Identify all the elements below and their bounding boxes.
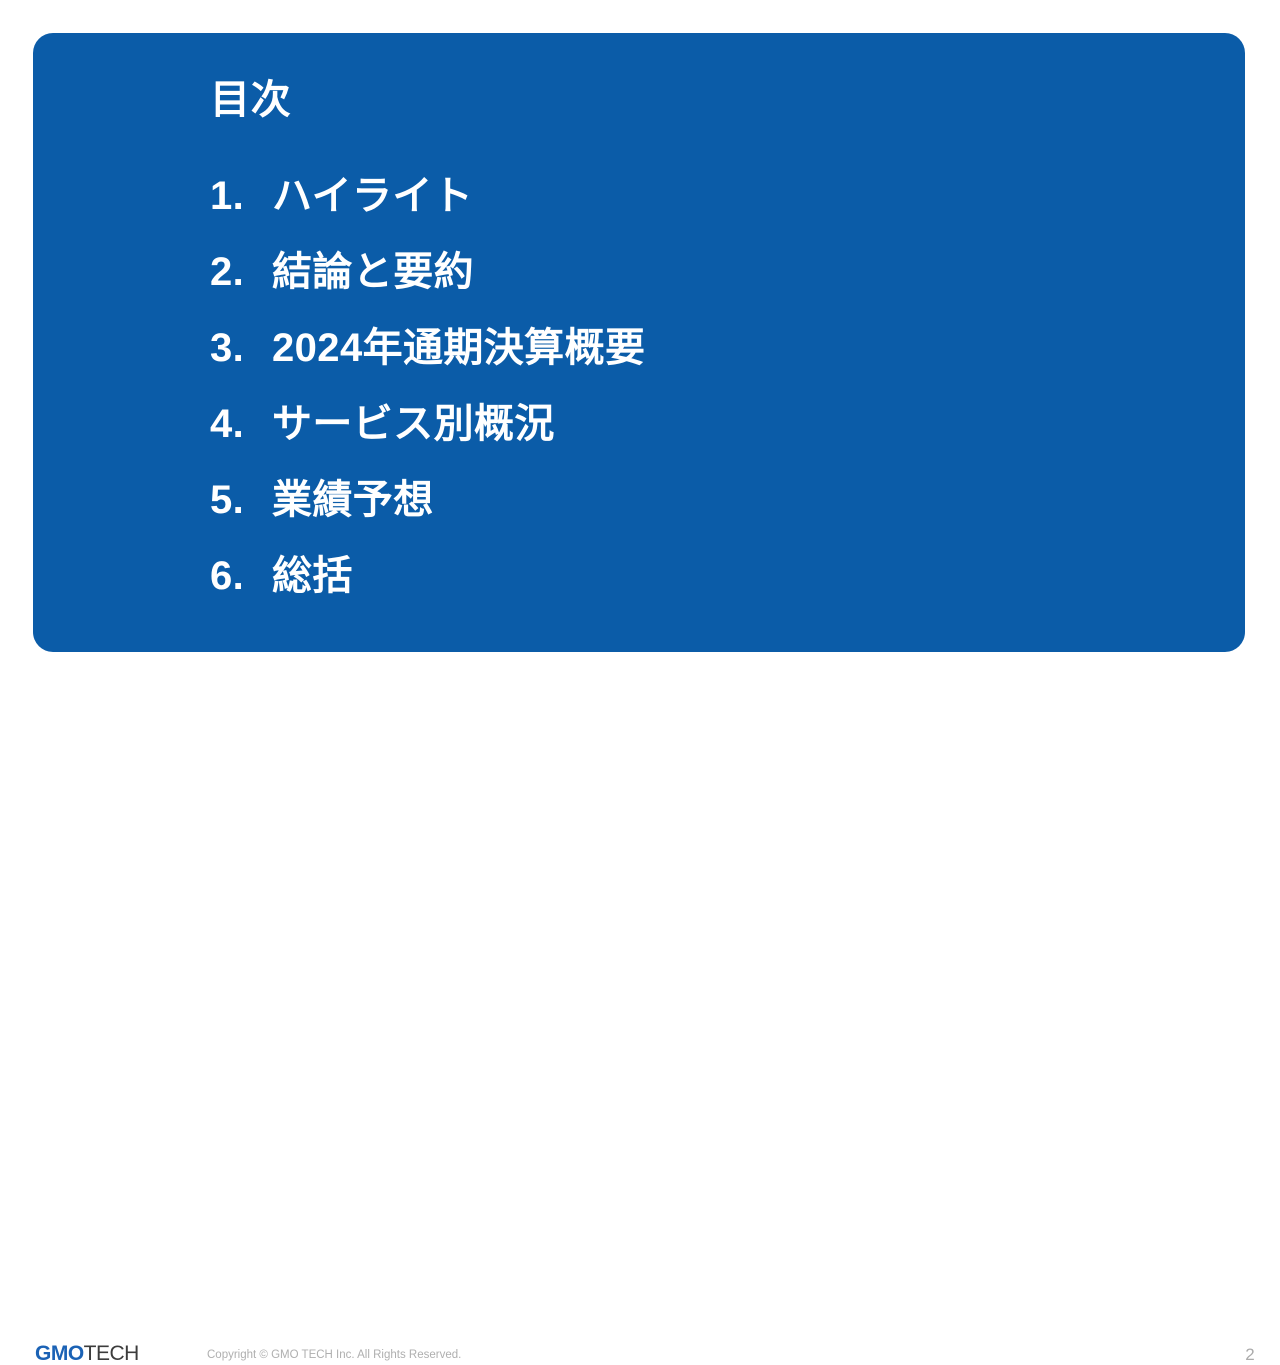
list-item-label: 業績予想 — [272, 462, 434, 538]
list-item[interactable]: 3. 2024年通期決算概要 — [210, 310, 1190, 386]
list-item-number: 4. — [210, 386, 272, 462]
page-number: 2 — [1238, 1345, 1262, 1365]
list-item-number: 3. — [210, 310, 272, 386]
list-item-number: 2. — [210, 234, 272, 310]
list-item-label: 総括 — [272, 538, 353, 614]
list-item-label: ハイライト — [272, 158, 473, 234]
list-item-label: サービス別概況 — [272, 386, 555, 462]
slide-footer: GMOTECH Copyright © GMO TECH Inc. All Ri… — [0, 665, 1280, 720]
table-of-contents-list: 1. ハイライト 2. 結論と要約 3. 2024年通期決算概要 4. サービス… — [210, 158, 1190, 614]
logo-text-gmo: GMO — [35, 1342, 84, 1365]
list-item-number: 1. — [210, 158, 272, 234]
list-item-number: 5. — [210, 462, 272, 538]
list-item[interactable]: 6. 総括 — [210, 538, 1190, 614]
list-item-label: 結論と要約 — [272, 234, 474, 310]
slide-canvas: 目次 1. ハイライト 2. 結論と要約 3. 2024年通期決算概要 4. サ… — [0, 0, 1280, 720]
logo-text-tech: TECH — [84, 1342, 139, 1365]
list-item-label: 2024年通期決算概要 — [272, 310, 645, 386]
table-of-contents-panel: 目次 1. ハイライト 2. 結論と要約 3. 2024年通期決算概要 4. サ… — [33, 33, 1245, 652]
page-title: 目次 — [210, 80, 292, 120]
gmo-tech-logo: GMOTECH — [35, 1343, 139, 1364]
list-item[interactable]: 1. ハイライト — [210, 158, 1190, 234]
copyright-notice: Copyright © GMO TECH Inc. All Rights Res… — [207, 1348, 461, 1362]
list-item[interactable]: 2. 結論と要約 — [210, 234, 1190, 310]
list-item-number: 6. — [210, 538, 272, 614]
list-item[interactable]: 5. 業績予想 — [210, 462, 1190, 538]
list-item[interactable]: 4. サービス別概況 — [210, 386, 1190, 462]
